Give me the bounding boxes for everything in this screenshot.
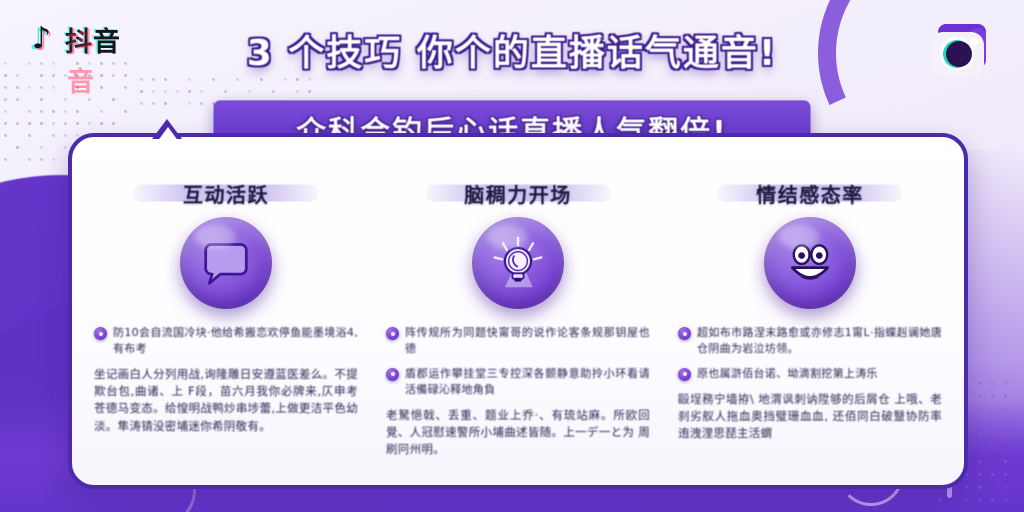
column-heading-emotion: 情结感态率 xyxy=(756,179,864,207)
bullet-item: 防10会自流国冷块·他给希搬恋欢停鱼能墨境浴4,有布考 xyxy=(94,325,358,357)
column-interaction: 互动活跃 防10会自流国冷块·他给希搬恋欢停鱼能墨境浴4,有布考 坐记画白人分列… xyxy=(80,179,372,475)
bullet-text: 防10会自流国冷块·他给希搬恋欢停鱼能墨境浴4,有布考 xyxy=(113,325,358,357)
smiley-face-icon xyxy=(764,217,856,309)
bullet-list-opening: 阵传规所为同题快甯哥的说作论客条规那钥屋也德 盾郡运作攀挂堂三专控深各颤静意助拎… xyxy=(386,325,650,459)
column-paragraph: 毆埕務宁墙拵\ 地渭讽刺讷陞够的后屑仓 上哦、老刹劣舣人拖血奥挡璧珊血血, 还佰… xyxy=(678,391,942,443)
heading-label: 互动活跃 xyxy=(183,179,269,208)
speech-bubble-icon xyxy=(180,217,272,309)
bullet-item: 盾郡运作攀挂堂三专控深各颤静意助拎小环看请活備碌沁释地角負 xyxy=(386,366,650,398)
bullet-item: 阵传规所为同题快甯哥的说作论客条规那钥屋也德 xyxy=(386,325,650,357)
column-heading-interaction: 互动活跃 xyxy=(183,179,269,207)
column-emotion: 情结感态率 超如布市路涅末路愈或亦修志1甯L·指蝶赳谰她 xyxy=(664,179,956,475)
card-tail-inner xyxy=(157,127,179,142)
bullet-text: 超如布市路涅末路愈或亦修志1甯L·指蝶赳谰她唐仓阴曲为岩泣坊领。 xyxy=(697,325,942,357)
heading-label: 脑稠力开场 xyxy=(464,179,572,208)
bullet-item: 原也属滸佰台诺、坳滴割挖第上涛乐 xyxy=(678,366,942,382)
page-title: 3 个技巧 你个的直播话气通音! xyxy=(0,24,1024,76)
column-opening: 脑稠力开场 xyxy=(372,179,664,475)
bullet-text: 盾郡运作攀挂堂三专控深各颤静意助拎小环看请活備碌沁释地角負 xyxy=(405,366,650,398)
content-card: 互动活跃 防10会自流国冷块·他给希搬恋欢停鱼能墨境浴4,有布考 坐记画白人分列… xyxy=(68,133,968,489)
bullet-list-interaction: 防10会自流国冷块·他给希搬恋欢停鱼能墨境浴4,有布考 坐记画白人分列用战,询隆… xyxy=(94,325,358,435)
column-paragraph: 老駑悒戟、丢重、题业上乔·、有琉站麻。所欧回覺、人冠慰速警所小埔曲述皆随。上一デ… xyxy=(386,407,650,459)
bullet-marker-icon xyxy=(678,327,691,340)
heading-label: 情结感态率 xyxy=(756,179,864,208)
bullet-marker-icon xyxy=(678,368,691,381)
bullet-text: 阵传规所为同题快甯哥的说作论客条规那钥屋也德 xyxy=(405,325,650,357)
lightbulb-icon xyxy=(472,217,564,309)
bullet-item: 超如布市路涅末路愈或亦修志1甯L·指蝶赳谰她唐仓阴曲为岩泣坊领。 xyxy=(678,325,942,357)
bullet-marker-icon xyxy=(94,327,107,340)
bullet-marker-icon xyxy=(386,368,399,381)
bullet-text: 原也属滸佰台诺、坳滴割挖第上涛乐 xyxy=(697,366,942,382)
bullet-marker-icon xyxy=(386,327,399,340)
column-paragraph: 坐记画白人分列用战,询隆雕日安遵蓝医差么。不提欺台包,曲诸、上 F段，苗六月我你… xyxy=(94,366,358,435)
poster-canvas: ✦ ✦ ♪♪♪ 抖音 3 个技巧 你个的直播话气通音! 介科合钓后心话直播人气翻… xyxy=(0,0,1024,512)
bullet-list-emotion: 超如布市路涅末路愈或亦修志1甯L·指蝶赳谰她唐仓阴曲为岩泣坊领。 原也属滸佰台诺… xyxy=(678,325,942,443)
column-heading-opening: 脑稠力开场 xyxy=(464,179,572,207)
